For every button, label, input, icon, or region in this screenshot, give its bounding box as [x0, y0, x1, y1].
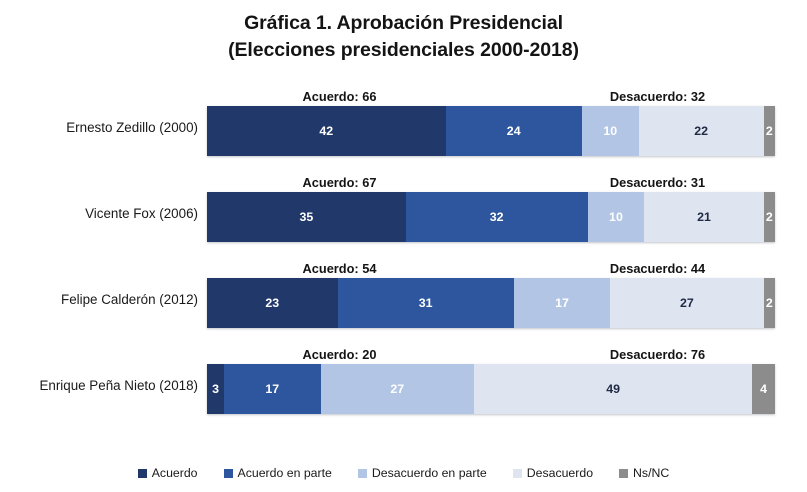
bar-segment-acuerdo[interactable]: 23: [207, 278, 338, 328]
bar-row: Felipe Calderón (2012) Acuerdo: 54 Desac…: [0, 260, 807, 340]
chart-container: Gráfica 1. Aprobación Presidencial (Elec…: [0, 0, 807, 492]
chart-legend: Acuerdo Acuerdo en parte Desacuerdo en p…: [0, 462, 807, 484]
summary-agree: Acuerdo: 67: [207, 174, 472, 192]
legend-swatch-icon: [513, 469, 522, 478]
bar-segment-acuerdo-en-parte[interactable]: 32: [406, 192, 588, 242]
segment-value: 27: [680, 296, 694, 310]
bar-row: Vicente Fox (2006) Acuerdo: 67 Desacuerd…: [0, 174, 807, 254]
bar-segment-ns-nc[interactable]: 2: [764, 192, 775, 242]
legend-label: Acuerdo: [152, 466, 198, 480]
summary-disagree: Desacuerdo: 44: [530, 260, 785, 278]
segment-value: 24: [507, 124, 521, 138]
segment-value: 23: [265, 296, 279, 310]
summary-disagree: Desacuerdo: 32: [530, 88, 785, 106]
segment-value: 42: [319, 124, 333, 138]
segment-value: 4: [760, 382, 767, 396]
segment-value: 2: [766, 296, 773, 310]
segment-value: 10: [603, 124, 617, 138]
legend-label: Ns/NC: [633, 466, 669, 480]
legend-swatch-icon: [138, 469, 147, 478]
bar-segment-desacuerdo[interactable]: 49: [474, 364, 752, 414]
segment-value: 10: [609, 210, 623, 224]
bar-segment-acuerdo-en-parte[interactable]: 17: [224, 364, 321, 414]
segment-value: 17: [265, 382, 279, 396]
bar-segment-acuerdo[interactable]: 35: [207, 192, 406, 242]
bar-row: Enrique Peña Nieto (2018) Acuerdo: 20 De…: [0, 346, 807, 426]
summary-agree: Acuerdo: 54: [207, 260, 472, 278]
legend-swatch-icon: [619, 469, 628, 478]
bar-segment-desacuerdo[interactable]: 21: [644, 192, 763, 242]
legend-item-acuerdo[interactable]: Acuerdo: [138, 466, 198, 480]
bar-segment-desacuerdo-en-parte[interactable]: 10: [582, 106, 639, 156]
legend-item-desacuerdo-en-parte[interactable]: Desacuerdo en parte: [358, 466, 487, 480]
category-label: Ernesto Zedillo (2000): [0, 115, 198, 141]
bar-segment-acuerdo[interactable]: 42: [207, 106, 446, 156]
summary-disagree: Desacuerdo: 76: [530, 346, 785, 364]
chart-title-line-1: Gráfica 1. Aprobación Presidencial: [244, 12, 563, 34]
category-label: Felipe Calderón (2012): [0, 287, 198, 313]
bar-segment-desacuerdo-en-parte[interactable]: 17: [514, 278, 611, 328]
bar-segment-acuerdo-en-parte[interactable]: 24: [446, 106, 582, 156]
category-label: Enrique Peña Nieto (2018): [0, 373, 198, 399]
bar-segment-ns-nc[interactable]: 2: [764, 278, 775, 328]
bar-segment-ns-nc[interactable]: 4: [752, 364, 775, 414]
stacked-bar: 35 32 10 21 2: [207, 192, 775, 242]
legend-label: Desacuerdo en parte: [372, 466, 487, 480]
bar-segment-desacuerdo-en-parte[interactable]: 27: [321, 364, 474, 414]
bar-segment-desacuerdo[interactable]: 22: [639, 106, 764, 156]
segment-value: 2: [766, 210, 773, 224]
legend-swatch-icon: [358, 469, 367, 478]
legend-swatch-icon: [224, 469, 233, 478]
chart-title-line-2: (Elecciones presidenciales 2000-2018): [0, 37, 807, 64]
stacked-bar: 23 31 17 27 2: [207, 278, 775, 328]
segment-value: 17: [555, 296, 569, 310]
legend-item-desacuerdo[interactable]: Desacuerdo: [513, 466, 593, 480]
stacked-bar: 42 24 10 22 2: [207, 106, 775, 156]
category-label: Vicente Fox (2006): [0, 201, 198, 227]
segment-value: 32: [490, 210, 504, 224]
segment-value: 3: [212, 382, 219, 396]
segment-value: 2: [766, 124, 773, 138]
segment-value: 35: [300, 210, 314, 224]
segment-value: 27: [390, 382, 404, 396]
summary-agree: Acuerdo: 66: [207, 88, 472, 106]
summary-disagree: Desacuerdo: 31: [530, 174, 785, 192]
segment-value: 31: [419, 296, 433, 310]
chart-title: Gráfica 1. Aprobación Presidencial (Elec…: [0, 10, 807, 64]
segment-value: 49: [606, 382, 620, 396]
bar-segment-acuerdo[interactable]: 3: [207, 364, 224, 414]
bar-segment-acuerdo-en-parte[interactable]: 31: [338, 278, 514, 328]
segment-value: 22: [694, 124, 708, 138]
stacked-bar: 3 17 27 49 4: [207, 364, 775, 414]
plot-area: Ernesto Zedillo (2000) Acuerdo: 66 Desac…: [0, 88, 807, 446]
segment-value: 21: [697, 210, 711, 224]
legend-label: Acuerdo en parte: [238, 466, 332, 480]
legend-label: Desacuerdo: [527, 466, 593, 480]
legend-item-ns-nc[interactable]: Ns/NC: [619, 466, 669, 480]
bar-row: Ernesto Zedillo (2000) Acuerdo: 66 Desac…: [0, 88, 807, 168]
bar-segment-desacuerdo[interactable]: 27: [610, 278, 763, 328]
legend-item-acuerdo-en-parte[interactable]: Acuerdo en parte: [224, 466, 332, 480]
bar-segment-desacuerdo-en-parte[interactable]: 10: [588, 192, 645, 242]
summary-agree: Acuerdo: 20: [207, 346, 472, 364]
bar-segment-ns-nc[interactable]: 2: [764, 106, 775, 156]
